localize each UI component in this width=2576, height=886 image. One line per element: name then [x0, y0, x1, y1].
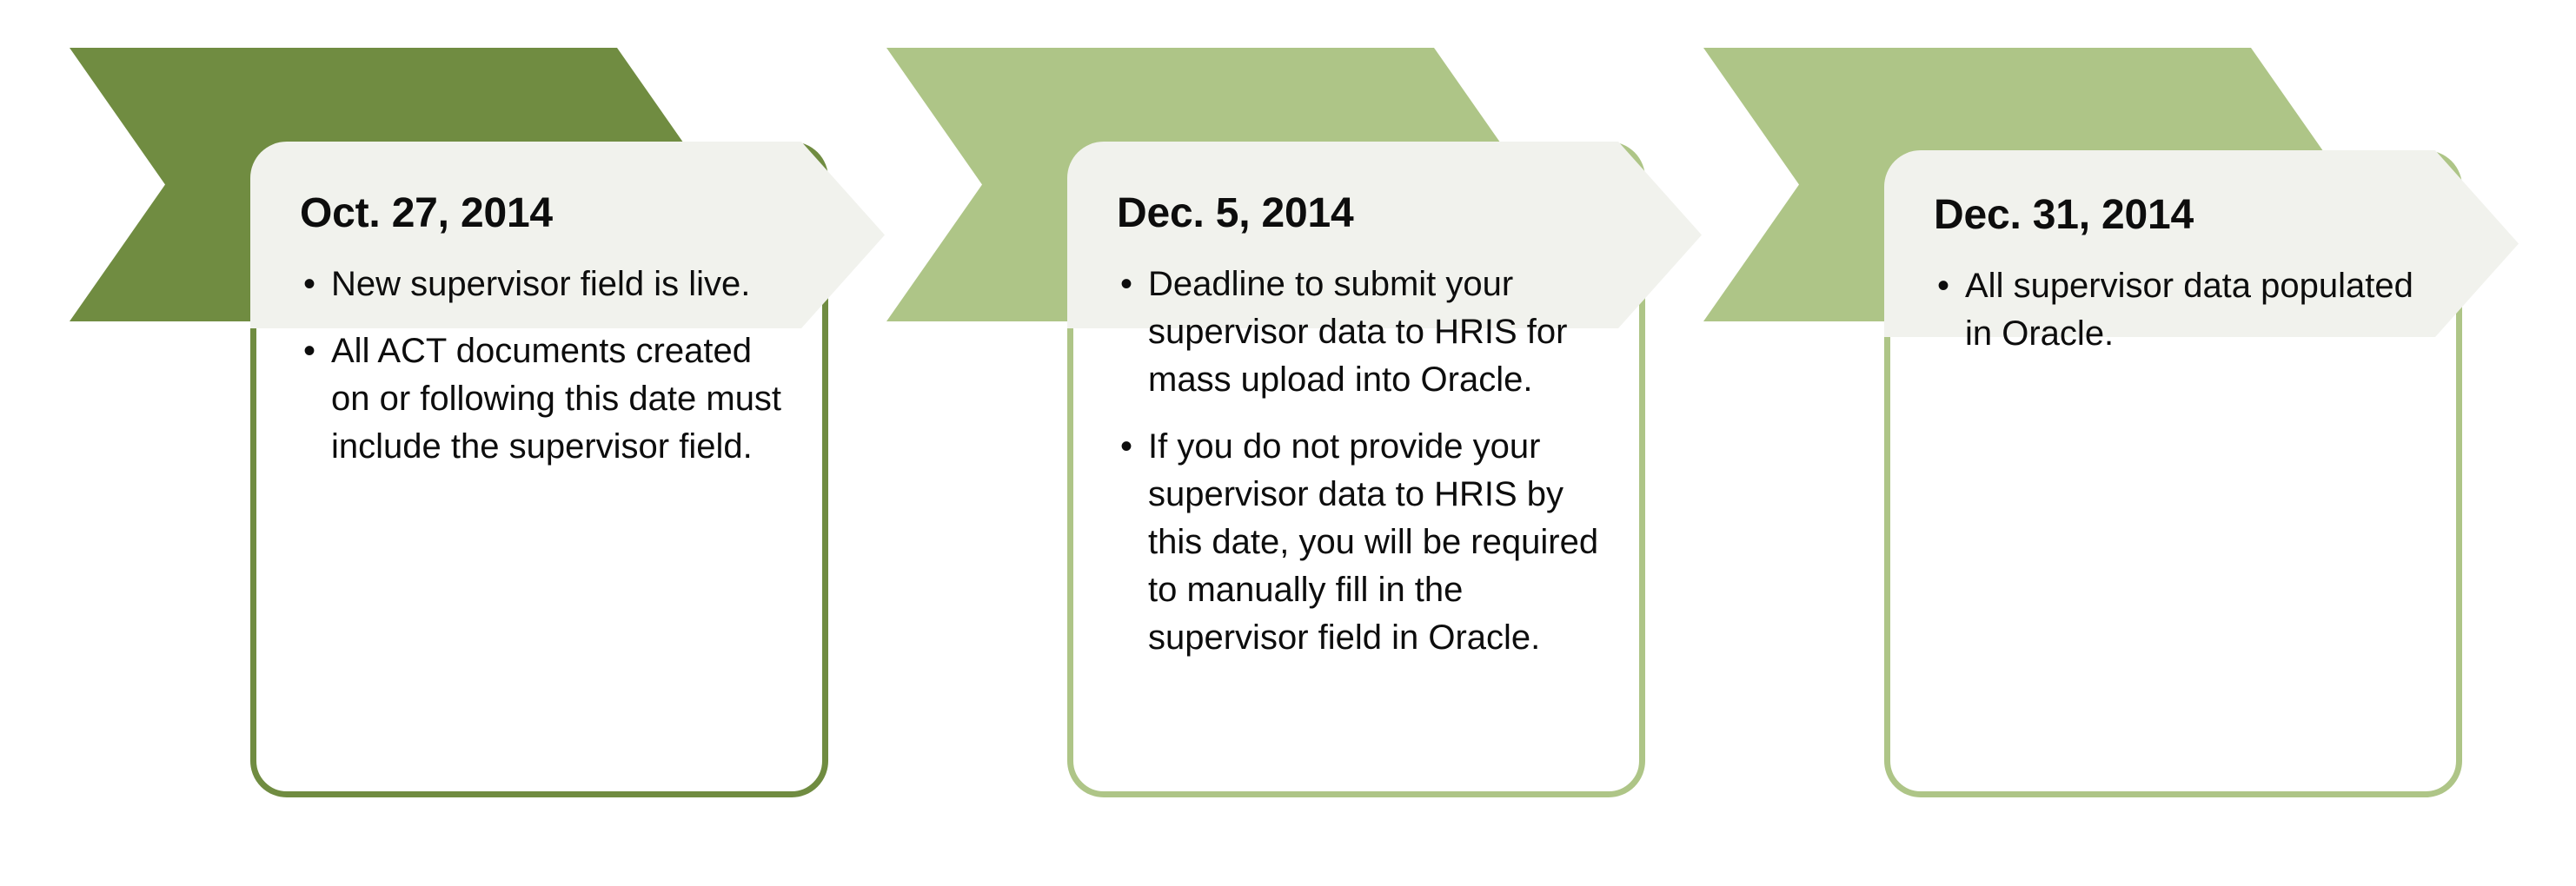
milestone-date-3: Dec. 31, 2014: [1934, 195, 2416, 236]
milestone-bullet: • If you do not provide your supervisor …: [1117, 423, 1599, 662]
milestone-bullet: • All supervisor data populated in Oracl…: [1934, 262, 2416, 358]
card-content-2: Dec. 5, 2014 • Deadline to submit your s…: [1073, 148, 1639, 791]
bullet-point-icon: •: [1937, 262, 1949, 310]
milestone-bullet-list-2: • Deadline to submit your supervisor dat…: [1117, 261, 1599, 662]
milestone-bullet-text: Deadline to submit your supervisor data …: [1148, 265, 1567, 399]
bullet-point-icon: •: [1120, 423, 1132, 471]
timeline-stage-1: Oct. 27, 2014 • New supervisor field is …: [70, 0, 939, 886]
milestone-bullet: • Deadline to submit your supervisor dat…: [1117, 261, 1599, 404]
timeline-stage-2: Dec. 5, 2014 • Deadline to submit your s…: [886, 0, 1756, 886]
bullet-point-icon: •: [303, 327, 315, 375]
milestone-bullet-list-3: • All supervisor data populated in Oracl…: [1934, 262, 2416, 358]
milestone-bullet-text: New supervisor field is live.: [331, 265, 750, 303]
card-content-3: Dec. 31, 2014 • All supervisor data popu…: [1890, 156, 2456, 791]
milestone-bullet-text: All supervisor data populated in Oracle.: [1965, 267, 2413, 353]
milestone-bullet: • All ACT documents created on or follow…: [300, 327, 782, 471]
milestone-card-3[interactable]: Dec. 31, 2014 • All supervisor data popu…: [1884, 150, 2462, 797]
card-content-1: Oct. 27, 2014 • New supervisor field is …: [256, 148, 822, 791]
milestone-date-1: Oct. 27, 2014: [300, 193, 782, 235]
milestone-card-1[interactable]: Oct. 27, 2014 • New supervisor field is …: [250, 142, 828, 797]
milestone-date-2: Dec. 5, 2014: [1117, 193, 1599, 235]
bullet-point-icon: •: [1120, 261, 1132, 308]
bullet-point-icon: •: [303, 261, 315, 308]
timeline-diagram: Oct. 27, 2014 • New supervisor field is …: [0, 0, 2576, 886]
milestone-card-2[interactable]: Dec. 5, 2014 • Deadline to submit your s…: [1067, 142, 1645, 797]
milestone-bullet-text: All ACT documents created on or followin…: [331, 332, 781, 466]
milestone-bullet: • New supervisor field is live.: [300, 261, 782, 308]
milestone-bullet-text: If you do not provide your supervisor da…: [1148, 427, 1598, 657]
timeline-stage-3: Dec. 31, 2014 • All supervisor data popu…: [1703, 0, 2573, 886]
milestone-bullet-list-1: • New supervisor field is live. • All AC…: [300, 261, 782, 471]
